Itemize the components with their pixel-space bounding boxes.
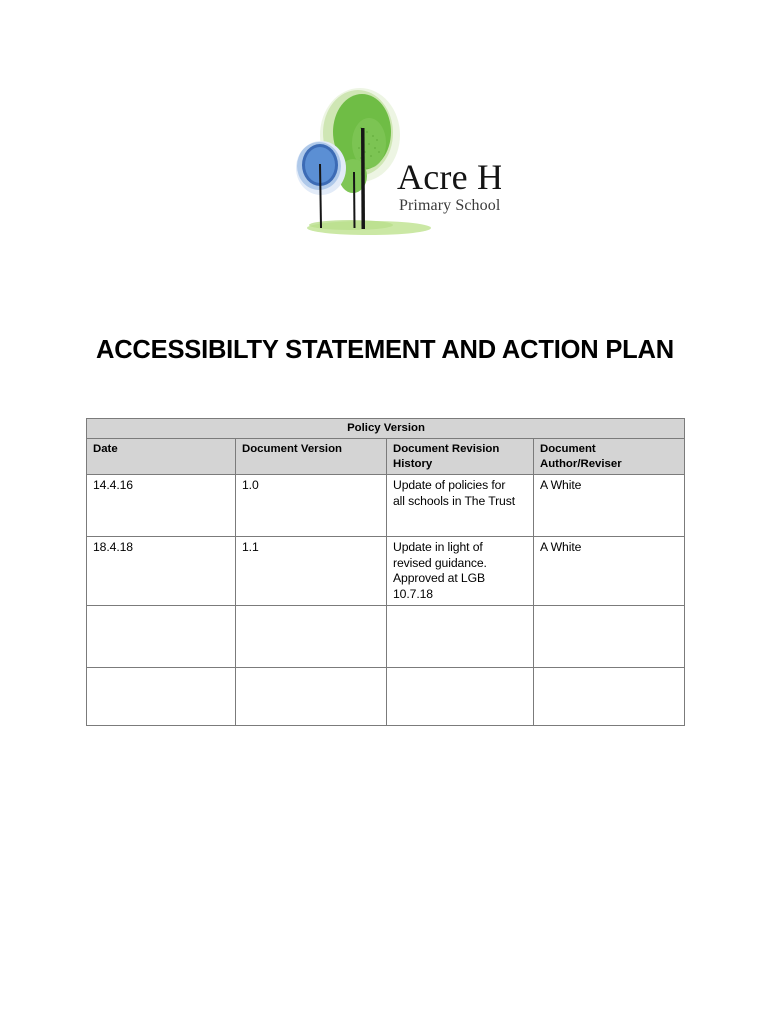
cell-version xyxy=(236,605,387,667)
column-header-document-version: Document Version xyxy=(236,438,387,475)
table-header-row: Date Document Version Document Revision … xyxy=(87,438,685,475)
policy-version-table: Policy Version Date Document Version Doc… xyxy=(86,418,685,726)
cell-version: 1.0 xyxy=(236,475,387,537)
school-logo: Acre Hall Primary School xyxy=(291,88,501,248)
cell-author xyxy=(534,667,685,725)
column-header-document-revision-history: Document Revision History xyxy=(387,438,534,475)
cell-date xyxy=(87,605,236,667)
cell-history xyxy=(387,605,534,667)
cell-history: Update in light of revised guidance. App… xyxy=(387,537,534,606)
cell-date: 18.4.18 xyxy=(87,537,236,606)
cell-history: Update of policies for all schools in Th… xyxy=(387,475,534,537)
table-banner-row: Policy Version xyxy=(87,419,685,439)
cell-history xyxy=(387,667,534,725)
cell-author xyxy=(534,605,685,667)
table-row xyxy=(87,605,685,667)
table-row: 14.4.16 1.0 Update of policies for all s… xyxy=(87,475,685,537)
cell-author: A White xyxy=(534,537,685,606)
table-row: 18.4.18 1.1 Update in light of revised g… xyxy=(87,537,685,606)
cell-version: 1.1 xyxy=(236,537,387,606)
cell-date: 14.4.16 xyxy=(87,475,236,537)
cell-version xyxy=(236,667,387,725)
logo-school-subtitle: Primary School xyxy=(399,197,501,214)
cell-date xyxy=(87,667,236,725)
table-banner-cell: Policy Version xyxy=(87,419,685,439)
cell-author: A White xyxy=(534,475,685,537)
logo-trunk-large-tree xyxy=(361,128,365,229)
document-page: Acre Hall Primary School ACCESSIBILTY ST… xyxy=(0,0,770,1024)
table-row xyxy=(87,667,685,725)
acre-hall-logo-graphic: Acre Hall Primary School xyxy=(291,88,501,248)
logo-school-name: Acre Hall xyxy=(397,157,501,197)
page-title: ACCESSIBILTY STATEMENT AND ACTION PLAN xyxy=(96,335,696,365)
column-header-document-author-reviser: Document Author/Reviser xyxy=(534,438,685,475)
column-header-date: Date xyxy=(87,438,236,475)
